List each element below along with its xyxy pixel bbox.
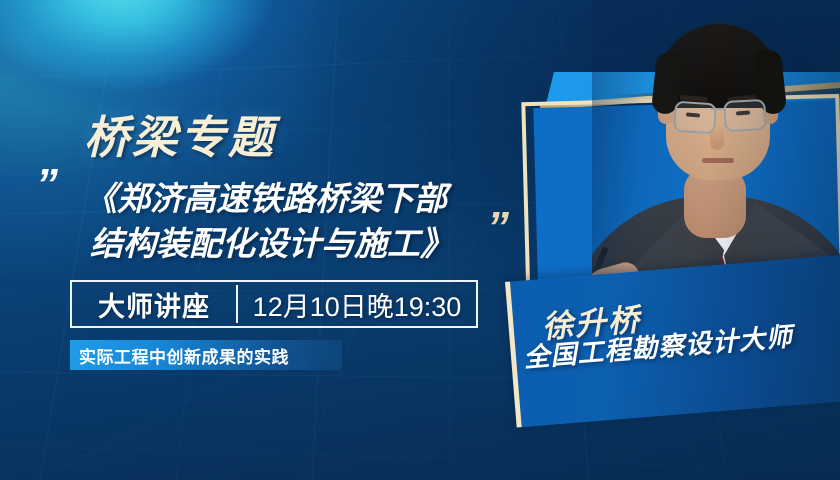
lecture-info-box: 大师讲座 12月10日晚19:30 bbox=[70, 280, 478, 328]
subtitle-text: 实际工程中创新成果的实践 bbox=[70, 343, 289, 368]
lecture-time-label: 12月10日晚19:30 bbox=[238, 282, 476, 326]
book-title-line-2: 结构装配化设计与施工》 bbox=[90, 221, 496, 266]
book-title: 《郑济高速铁路桥梁下部 结构装配化设计与施工》 bbox=[84, 176, 496, 266]
lecture-tag-label: 大师讲座 bbox=[72, 282, 236, 326]
quote-mark-open-icon: ” bbox=[36, 163, 58, 207]
page-title: 桥梁专题 bbox=[84, 101, 276, 166]
poster-canvas: 徐升桥 全国工程勘察设计大师 桥梁专题 ” ” 《郑济高速铁路桥梁下部 结构装配… bbox=[0, 0, 840, 480]
subtitle-banner: 实际工程中创新成果的实践 bbox=[70, 340, 342, 370]
book-title-line-1: 《郑济高速铁路桥梁下部 bbox=[84, 180, 447, 217]
